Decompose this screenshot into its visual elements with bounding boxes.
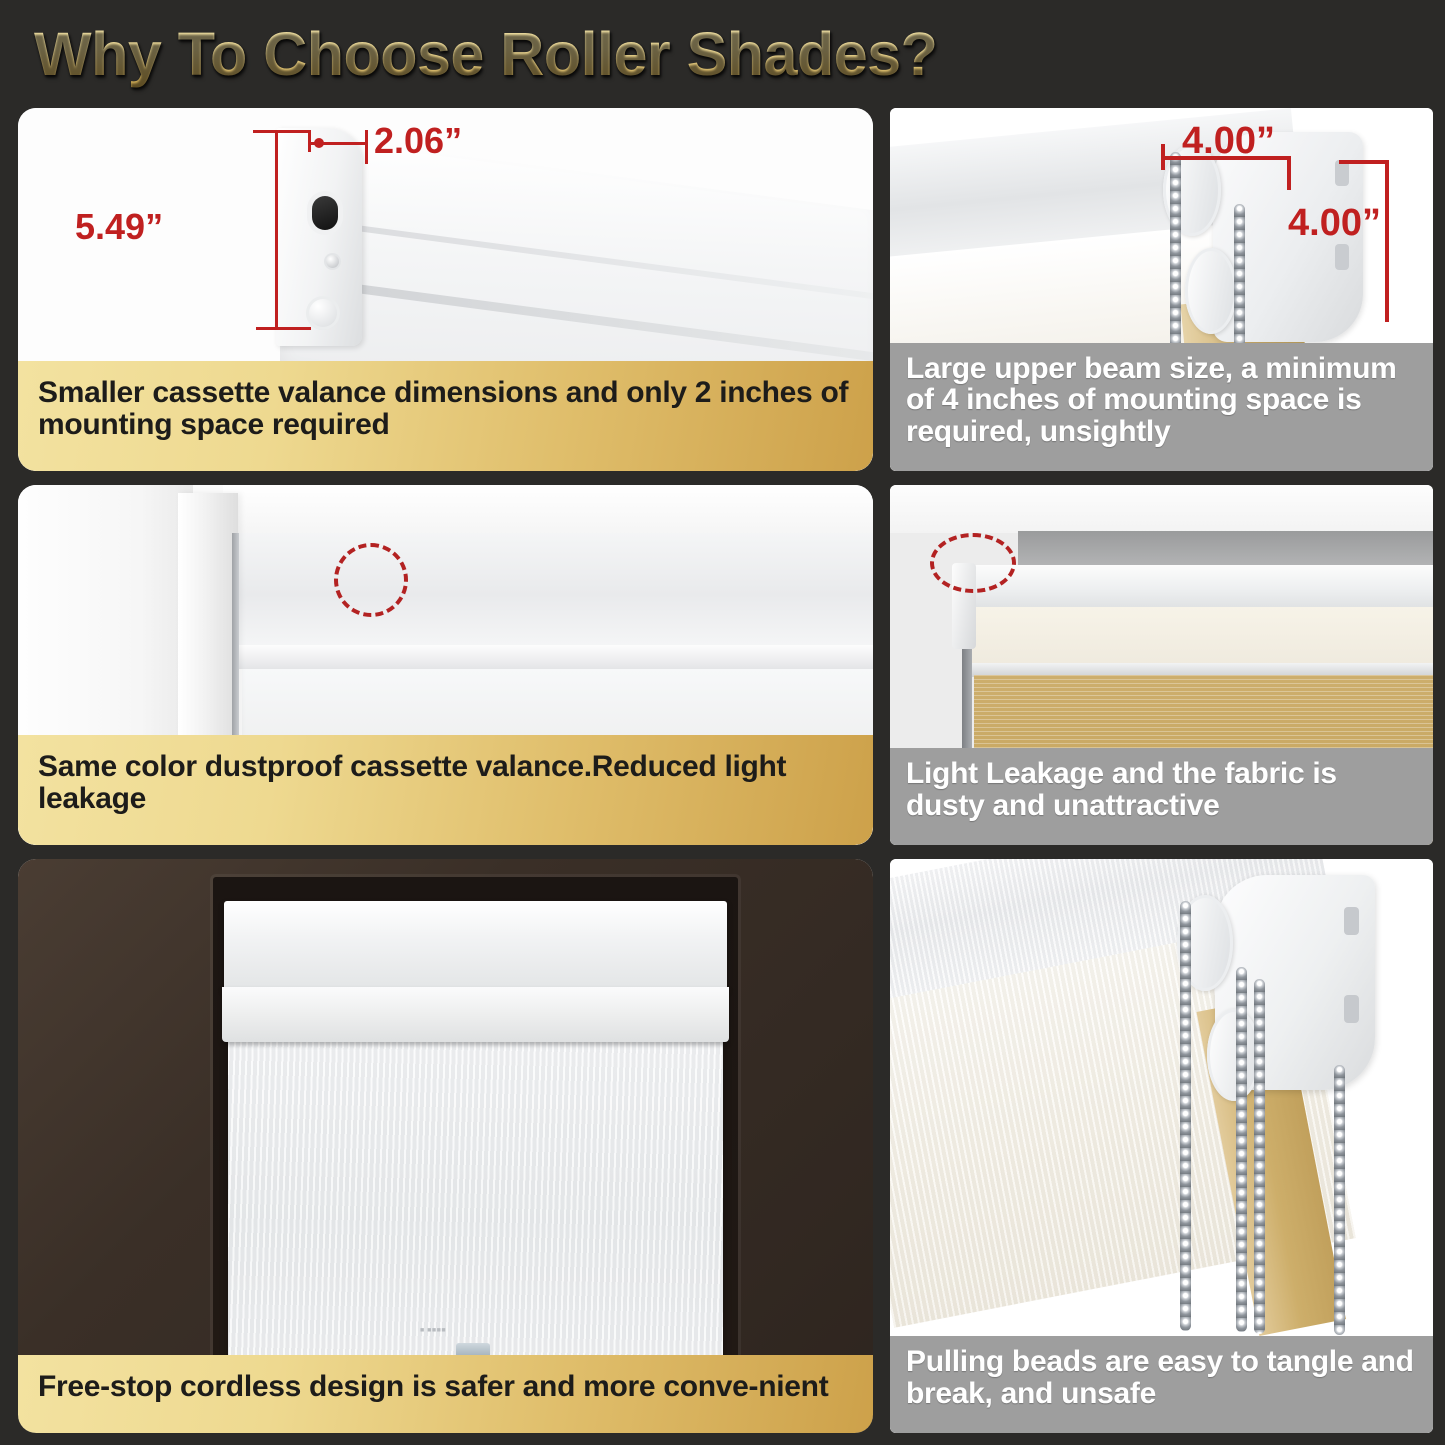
panel-1-caption: Smaller cassette valance dimensions and …	[18, 361, 873, 471]
shade-fabric	[228, 1039, 723, 1369]
roller-disc-lower	[1207, 1009, 1261, 1101]
height-dim-tick-top	[253, 130, 311, 133]
cassette-endcap	[276, 128, 362, 346]
bead-chain-3	[1254, 979, 1265, 1334]
panel-3-caption: Same color dustproof cassette valance.Re…	[18, 735, 873, 845]
highlight-circle	[930, 533, 1016, 593]
panel-cordless-design: ■ ■■■■ Free-stop cordless design is safe…	[18, 859, 873, 1433]
roller-disc-lower	[1185, 248, 1237, 334]
panel-pulling-beads: Pulling beads are easy to tangle and bre…	[890, 859, 1433, 1433]
cassette-valance	[224, 901, 727, 991]
endcap-slot	[312, 196, 338, 230]
panel-smaller-gap: smaller gap Same color dustproof cassett…	[18, 485, 873, 845]
beam-width-label: 4.00”	[1182, 120, 1275, 163]
panel-smaller-cassette: 2.06” 5.49” Smaller cassette valance dim…	[18, 108, 873, 471]
cream-fabric	[972, 607, 1433, 667]
beam-height-dim-line	[1385, 160, 1389, 322]
height-dim-line	[275, 130, 278, 330]
shade-mid-rail	[236, 645, 873, 669]
beam-height-tick-top	[1339, 160, 1389, 164]
page-title: Why To Choose Roller Shades?	[34, 19, 937, 89]
bead-chain-1	[1180, 901, 1191, 1331]
bead-chain-4	[1334, 1065, 1345, 1335]
panel-2-caption: Large upper beam size, a minimum of 4 in…	[890, 343, 1433, 472]
comparison-grid: 2.06” 5.49” Smaller cassette valance dim…	[0, 108, 1445, 1445]
width-dim-tick-left	[308, 130, 311, 152]
height-dimension-label: 5.49”	[75, 206, 163, 248]
highlight-circle	[334, 543, 408, 617]
beam-width-tick-right	[1287, 156, 1291, 190]
endcap-screw	[326, 255, 339, 268]
endcap-knob	[306, 296, 340, 330]
roller-tube	[960, 565, 1433, 613]
panel-6-caption: Pulling beads are easy to tangle and bre…	[890, 1336, 1433, 1433]
beam-width-tick-left	[1161, 144, 1165, 170]
width-dim-tick-right	[365, 130, 368, 164]
valance-lower-lip	[222, 987, 729, 1042]
brand-logo: ■ ■■■■	[420, 1327, 446, 1334]
width-dimension-label: 2.06”	[374, 120, 462, 162]
panel-large-beam: 4.00” 4.00” Large upper beam size, a min…	[890, 108, 1433, 471]
page-header: Why To Choose Roller Shades?	[0, 0, 1445, 108]
panel-large-gap: Large gap Light Leakage and the fabric i…	[890, 485, 1433, 845]
room-window-photo: ■ ■■■■	[18, 859, 873, 1433]
beam-height-label: 4.00”	[1288, 202, 1381, 245]
bead-chain-2	[1236, 967, 1247, 1332]
width-dim-line	[308, 142, 368, 145]
shade-top-section	[236, 533, 873, 645]
panel-4-caption: Light Leakage and the fabric is dusty an…	[890, 748, 1433, 845]
panel-5-caption: Free-stop cordless design is safer and m…	[18, 1355, 873, 1433]
height-dim-tick-bottom	[256, 327, 311, 330]
